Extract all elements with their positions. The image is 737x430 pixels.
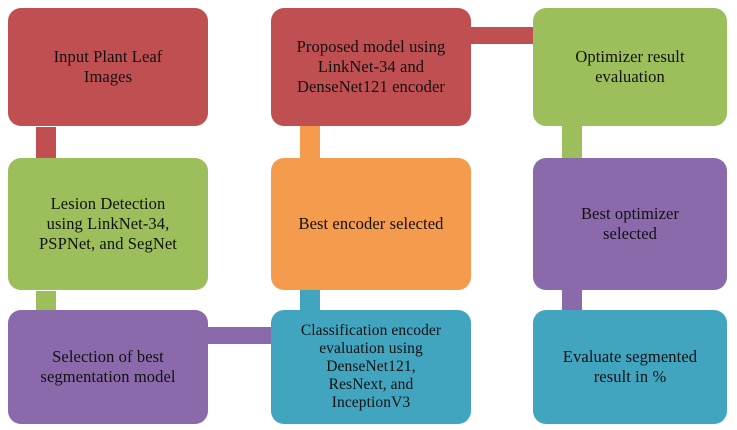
node-proposed-model[interactable]: Proposed model using LinkNet-34 and Dens… (271, 8, 471, 126)
node-selection-of-best-segmentation-model[interactable]: Selection of best segmentation model (8, 310, 208, 424)
connector-optimizer-to-bestoptimizer (562, 126, 582, 159)
connector-bestencoder-to-proposed (300, 126, 320, 159)
node-label: Evaluate segmented result in % (541, 347, 719, 387)
connector-proposed-to-optimizer (470, 27, 534, 44)
connector-bestoptimizer-to-evaluate (562, 290, 582, 311)
connector-lesion-to-selection (36, 291, 56, 311)
node-label: Optimizer result evaluation (541, 47, 719, 87)
node-label: Selection of best segmentation model (16, 347, 200, 387)
node-best-encoder-selected[interactable]: Best encoder selected (271, 158, 471, 290)
node-label: Input Plant Leaf Images (16, 47, 200, 87)
connector-classification-to-bestencoder (300, 290, 320, 311)
node-optimizer-result-evaluation[interactable]: Optimizer result evaluation (533, 8, 727, 126)
node-lesion-detection[interactable]: Lesion Detection using LinkNet-34, PSPNe… (8, 158, 208, 290)
node-label: Classification encoder evaluation using … (279, 322, 463, 412)
connector-selection-to-classification (207, 327, 273, 344)
node-best-optimizer-selected[interactable]: Best optimizer selected (533, 158, 727, 290)
node-classification-encoder-evaluation[interactable]: Classification encoder evaluation using … (271, 310, 471, 424)
node-label: Proposed model using LinkNet-34 and Dens… (279, 37, 463, 97)
node-label: Lesion Detection using LinkNet-34, PSPNe… (16, 194, 200, 254)
node-label: Best encoder selected (279, 214, 463, 234)
node-label: Best optimizer selected (541, 204, 719, 244)
connector-input-to-lesion (36, 127, 56, 158)
flowchart-canvas: Input Plant Leaf Images Proposed model u… (0, 0, 737, 430)
node-input-plant-leaf-images[interactable]: Input Plant Leaf Images (8, 8, 208, 126)
node-evaluate-segmented-result[interactable]: Evaluate segmented result in % (533, 310, 727, 424)
